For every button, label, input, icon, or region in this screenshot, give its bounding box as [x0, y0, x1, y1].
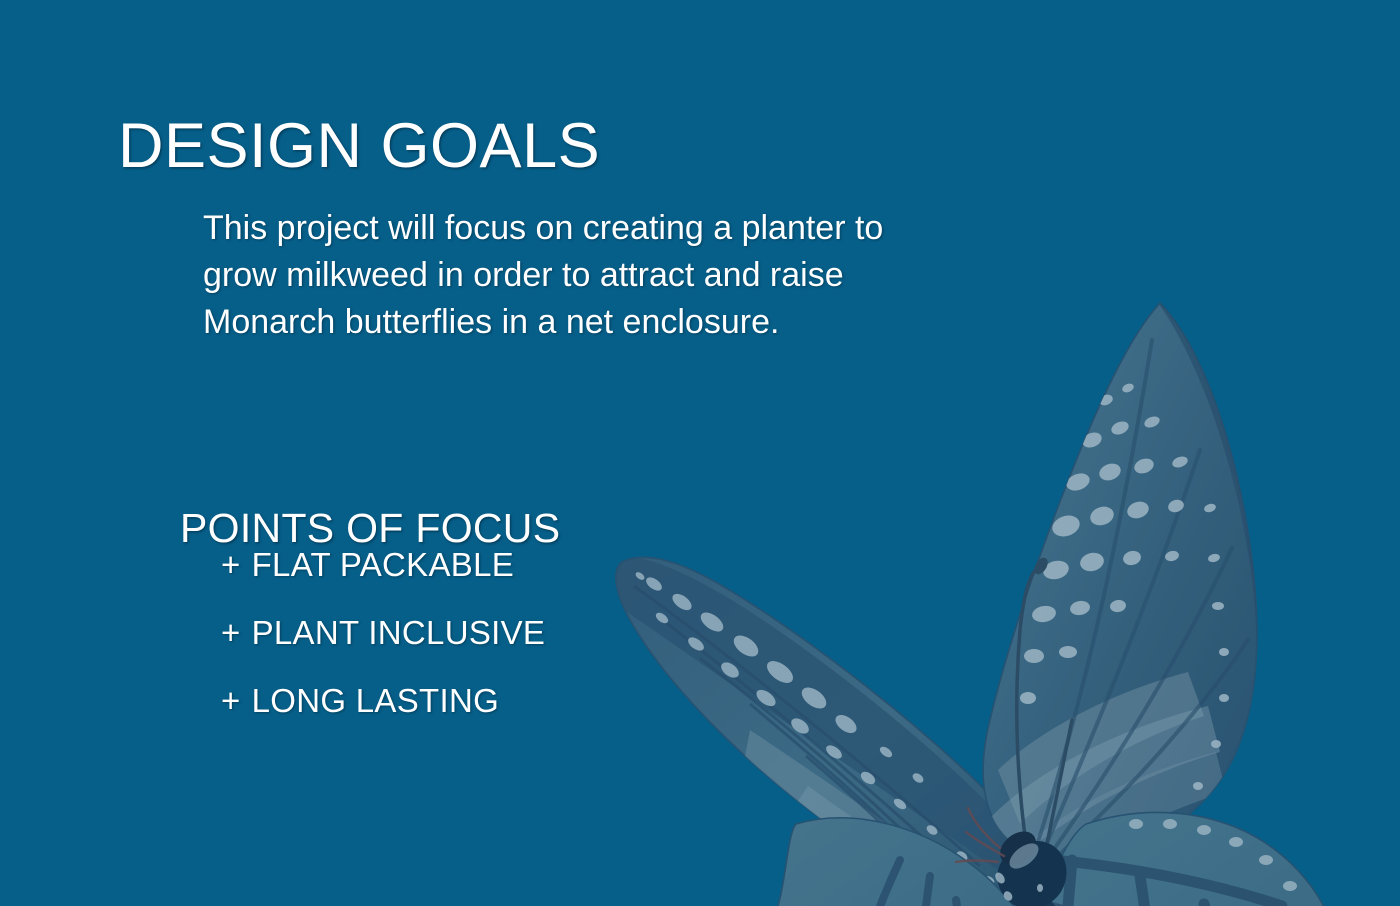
list-item: +PLANT INCLUSIVE [221, 611, 545, 679]
bullet-plus-icon: + [221, 679, 241, 722]
list-item: +FLAT PACKABLE [221, 543, 545, 611]
points-of-focus-list: +FLAT PACKABLE +PLANT INCLUSIVE +LONG LA… [221, 543, 545, 747]
list-item-label: FLAT PACKABLE [252, 546, 515, 583]
slide-text-content: DESIGN GOALS This project will focus on … [0, 0, 1400, 906]
intro-line-3: Monarch butterflies in a net enclosure. [203, 299, 1033, 346]
page-title: DESIGN GOALS [118, 110, 600, 182]
list-item: +LONG LASTING [221, 679, 545, 747]
intro-paragraph: This project will focus on creating a pl… [203, 205, 1033, 346]
bullet-plus-icon: + [221, 543, 241, 586]
presentation-slide: DESIGN GOALS This project will focus on … [0, 0, 1400, 906]
list-item-label: PLANT INCLUSIVE [252, 614, 546, 651]
intro-line-2: grow milkweed in order to attract and ra… [203, 252, 1033, 299]
bullet-plus-icon: + [221, 611, 241, 654]
intro-line-1: This project will focus on creating a pl… [203, 205, 1033, 252]
list-item-label: LONG LASTING [252, 682, 500, 719]
